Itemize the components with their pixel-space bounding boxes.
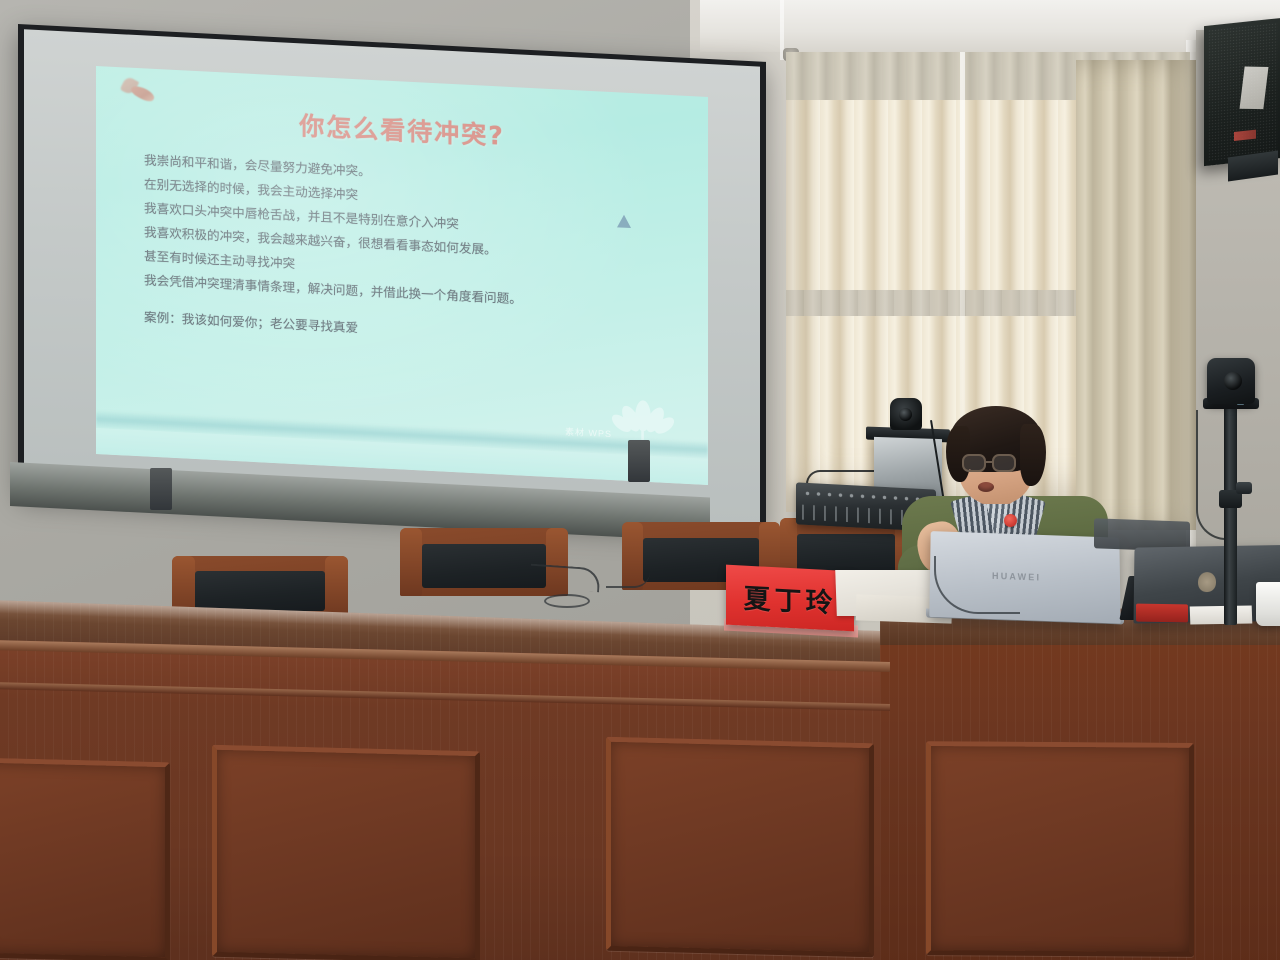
tripod-pole xyxy=(1224,400,1237,625)
slide-body-text: 我崇尚和平和谐，会尽量努力避免冲突。 在别无选择的时候，我会主动选择冲突 我喜欢… xyxy=(144,148,678,319)
slide-case-line: 案例：我该如何爱你；老公要寻找真爱 xyxy=(144,306,358,336)
triangle-marker-icon xyxy=(617,214,631,228)
eyeglasses-right-icon xyxy=(992,454,1016,472)
wall-speaker xyxy=(1204,18,1280,166)
presenter-mouth xyxy=(978,482,994,492)
presenter-hair-right xyxy=(1020,424,1046,486)
eyeglasses-bridge xyxy=(986,461,994,463)
screen-bracket-right xyxy=(628,440,650,482)
ptz-camera-lens-icon xyxy=(1224,372,1242,390)
tripod-adjust-knob[interactable] xyxy=(1236,482,1252,494)
apple-logo-icon xyxy=(1198,572,1216,592)
projection-screen: 你怎么看待冲突? 我崇尚和平和谐，会尽量努力避免冲突。 在别无选择的时候，我会主… xyxy=(18,24,766,532)
paper-cup xyxy=(1256,582,1280,626)
red-desk-item xyxy=(1136,604,1188,623)
speaker-reflection xyxy=(1240,67,1269,110)
podium-panel-1 xyxy=(0,758,170,960)
podium-panel-3 xyxy=(606,737,874,958)
white-paper-pad xyxy=(1190,605,1253,624)
eyeglasses-left-icon xyxy=(962,454,986,472)
lapel-microphone-icon xyxy=(1004,514,1017,527)
conference-room-scene: 你怎么看待冲突? 我崇尚和平和谐，会尽量努力避免冲突。 在别无选择的时候，我会主… xyxy=(0,0,1280,960)
slide-canvas: 你怎么看待冲突? 我崇尚和平和谐，会尽量努力避免冲突。 在别无选择的时候，我会主… xyxy=(96,66,708,485)
desk-cable-loop xyxy=(544,594,590,608)
screen-bracket-left xyxy=(150,468,172,510)
podium-panel-4 xyxy=(926,741,1194,957)
mixer-faders[interactable] xyxy=(802,505,906,525)
podium-panel-2 xyxy=(212,745,480,960)
